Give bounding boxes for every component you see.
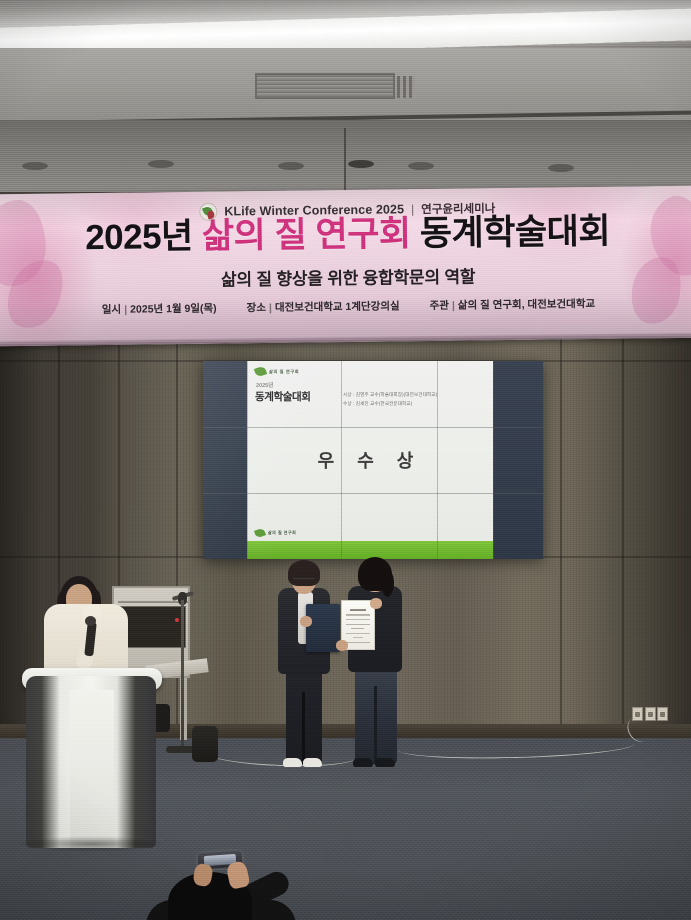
- recessed-light-icon: [22, 162, 48, 170]
- banner-title-tail: 동계학술대회: [410, 212, 610, 253]
- recessed-light-icon: [148, 160, 174, 168]
- slide-meta-line-2: 수상 : 김세진 교수(한국전문대학교): [343, 400, 483, 409]
- video-wall-bezel-seam: [203, 493, 543, 494]
- wall-shadow-right: [571, 338, 691, 758]
- microphone-capsule-icon: [85, 616, 96, 626]
- power-outlet-icon: [645, 707, 656, 721]
- certificate-text-lines: [346, 609, 370, 646]
- recessed-light-icon: [348, 160, 374, 168]
- presenter-hand: [300, 616, 312, 627]
- banner-info-place-label: 장소: [247, 302, 266, 314]
- banner-info-place-value: 대전보건대학교 1계단강의실: [275, 300, 400, 314]
- banner-title-highlight: 삶의 질 연구회: [202, 214, 411, 256]
- banner-info-host: 주관|삶의 질 연구회, 대전보건대학교: [430, 296, 596, 313]
- banner-info-host-value: 삶의 질 연구회, 대전보건대학교: [458, 298, 595, 312]
- video-wall-panel-left: [203, 361, 247, 559]
- floor-monitor-speaker: [192, 726, 218, 762]
- slide-meta-line-1: 시상 : 김영주 교수(학술대회장)(대전보건대학교): [343, 391, 483, 400]
- lectern-shadow: [16, 836, 166, 852]
- recipient-hand: [370, 598, 382, 609]
- conference-banner: KLife Winter Conference 2025 | 연구윤리세미나 2…: [0, 186, 691, 347]
- recipient-shoe: [375, 758, 395, 767]
- klife-leaf-logo-icon: [254, 528, 266, 539]
- slide-org-logo: 삶의 질 연구회: [255, 367, 299, 376]
- banner-info-date-label: 일시: [102, 304, 121, 316]
- recipient-shoe: [353, 758, 373, 767]
- slide-footer-org: 삶의 질 연구회: [268, 530, 296, 536]
- video-wall-bezel-seam: [341, 361, 342, 559]
- power-outlet-icon: [657, 707, 668, 721]
- recessed-light-icon: [408, 162, 434, 170]
- banner-info-host-bar: |: [452, 300, 455, 312]
- video-wall-panel-right: [493, 361, 543, 559]
- slide-year: 2025년: [256, 381, 273, 389]
- slide-title: 동계학술대회: [255, 389, 311, 404]
- banner-info-row: 일시|2025년 1월 9일(목) 장소|대전보건대학교 1계단강의실 주관|삶…: [0, 295, 691, 319]
- slide-green-footer-band: [247, 541, 493, 559]
- presentation-slide: 삶의 질 연구회 2025년 동계학술대회 시상 : 김영주 교수(학술대회장)…: [247, 361, 493, 559]
- slide-award-text: 우 수 상: [247, 447, 493, 473]
- ceiling-air-vent-icon: [255, 73, 395, 99]
- recessed-light-icon: [278, 162, 304, 170]
- video-wall-bezel-seam: [203, 427, 543, 428]
- video-wall-display: 삶의 질 연구회 2025년 동계학술대회 시상 : 김영주 교수(학술대회장)…: [203, 361, 543, 559]
- conference-award-photo: 삶의 질 연구회 2025년 동계학술대회 시상 : 김영주 교수(학술대회장)…: [0, 0, 691, 920]
- presenter-legs: [286, 666, 322, 764]
- banner-info-place-bar: |: [269, 302, 272, 314]
- recessed-light-icon: [548, 164, 574, 172]
- presenter-shoe: [303, 758, 322, 767]
- wall-panel-seam: [560, 338, 562, 758]
- video-wall-bezel-seam: [493, 361, 494, 559]
- banner-title-lead: 2025년: [85, 217, 202, 257]
- slide-footer-logo: 삶의 질 연구회: [255, 529, 296, 537]
- klife-leaf-logo-icon: [254, 365, 267, 377]
- banner-info-date-bar: |: [124, 304, 127, 316]
- banner-info-date: 일시|2025년 1월 9일(목): [102, 301, 217, 317]
- recipient-legs: [355, 664, 397, 764]
- ceiling-panel-seam: [344, 128, 346, 192]
- ceiling-recessed-band: [0, 120, 691, 192]
- microphone-stand-pole: [181, 600, 184, 750]
- banner-subtitle: 삶의 질 향상을 위한 융합학문의 역할: [0, 260, 691, 294]
- banner-info-date-value: 2025년 1월 9일(목): [130, 303, 217, 316]
- glasses-icon: [293, 578, 315, 583]
- wall-panel-seam: [176, 338, 178, 758]
- video-wall-bezel-seam: [437, 361, 438, 559]
- certificate-folder: [306, 604, 340, 652]
- rack-equipment-bay: [120, 606, 186, 648]
- banner-info-place: 장소|대전보건대학교 1계단강의실: [247, 298, 400, 315]
- rack-power-led-icon: [175, 618, 179, 622]
- video-wall-bezel-seam: [247, 361, 248, 559]
- presenter-shoe: [283, 758, 302, 767]
- presenter-hand: [336, 640, 348, 651]
- slide-meta: 시상 : 김영주 교수(학술대회장)(대전보건대학교) 수상 : 김세진 교수(…: [343, 391, 483, 408]
- recipient-hair: [358, 557, 392, 591]
- banner-main-title: 2025년 삶의 질 연구회 동계학술대회: [0, 213, 691, 257]
- banner-info-host-label: 주관: [430, 300, 449, 312]
- slide-org-name: 삶의 질 연구회: [269, 369, 299, 375]
- lectern-front-panel: [70, 690, 114, 848]
